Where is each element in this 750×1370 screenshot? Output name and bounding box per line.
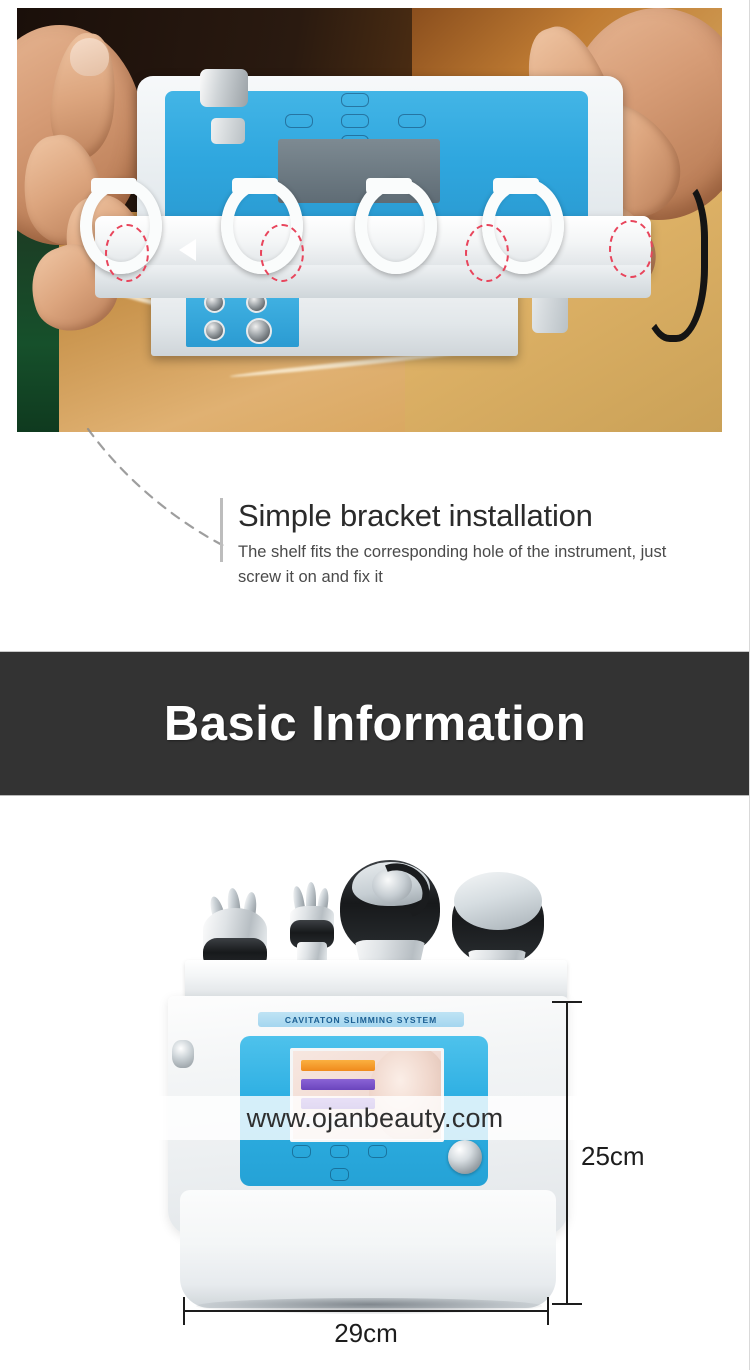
- device-knob-lower: [211, 118, 245, 144]
- width-dimension-line: [183, 1310, 549, 1312]
- device-panel-button: [398, 114, 426, 128]
- caption-title: Simple bracket installation: [238, 498, 593, 534]
- bracket-hook-notch: [232, 178, 278, 194]
- width-dimension-label: 29cm: [0, 1318, 732, 1349]
- height-dimension-label: 25cm: [581, 1141, 645, 1172]
- caption-subtitle: The shelf fits the corresponding hole of…: [238, 540, 698, 590]
- photo-scene: SLIMMING: [17, 8, 722, 432]
- device-base: [180, 1190, 556, 1308]
- bracket-hook-notch: [366, 178, 412, 194]
- device-connector-port: [246, 318, 272, 344]
- device-control-button-back[interactable]: [292, 1145, 311, 1158]
- screen-menu-item-1[interactable]: [301, 1060, 375, 1071]
- device-control-button-menu[interactable]: [330, 1145, 349, 1158]
- device-brand-label: CAVITATON SLIMMING SYSTEM: [258, 1012, 464, 1027]
- height-dimension-line: [566, 1001, 568, 1305]
- device-panel-button: [285, 114, 313, 128]
- screw-hole-marker-4: [609, 220, 653, 278]
- screw-hole-marker-3: [465, 224, 509, 282]
- basic-information-banner: Basic Information: [0, 651, 750, 796]
- device-control-button-enter[interactable]: [368, 1145, 387, 1158]
- height-dimension-cap-top: [552, 1001, 582, 1003]
- bracket-installation-photo: SLIMMING: [17, 8, 722, 432]
- device-control-button-down[interactable]: [330, 1168, 349, 1181]
- product-photo-stage: CAVITATON SLIMMING SYSTEM: [0, 800, 750, 1370]
- device-panel-button: [341, 93, 369, 107]
- caption-accent-bar: [220, 498, 223, 562]
- watermark-url: www.ojanbeauty.com: [247, 1103, 504, 1134]
- watermark-band: www.ojanbeauty.com: [0, 1096, 750, 1140]
- bracket-hook-notch: [91, 178, 137, 194]
- screen-menu-item-2[interactable]: [301, 1079, 375, 1090]
- screw-hole-marker-1: [105, 224, 149, 282]
- device-intensity-knob[interactable]: [448, 1140, 482, 1174]
- device-side-connector: [172, 1040, 194, 1068]
- device-knob-upper: [200, 69, 248, 107]
- height-dimension-cap-bottom: [552, 1303, 582, 1305]
- device-connector-port: [204, 320, 225, 341]
- bracket-hook-notch: [493, 178, 539, 194]
- left-hand-nail: [70, 38, 109, 76]
- product-detail-page: SLIMMING: [0, 0, 750, 1370]
- direction-arrow-icon: [179, 239, 196, 261]
- device-panel-button: [341, 114, 369, 128]
- banner-title: Basic Information: [164, 696, 586, 752]
- device-handle-shelf: [185, 960, 567, 998]
- bracket-rail-lower: [95, 265, 652, 299]
